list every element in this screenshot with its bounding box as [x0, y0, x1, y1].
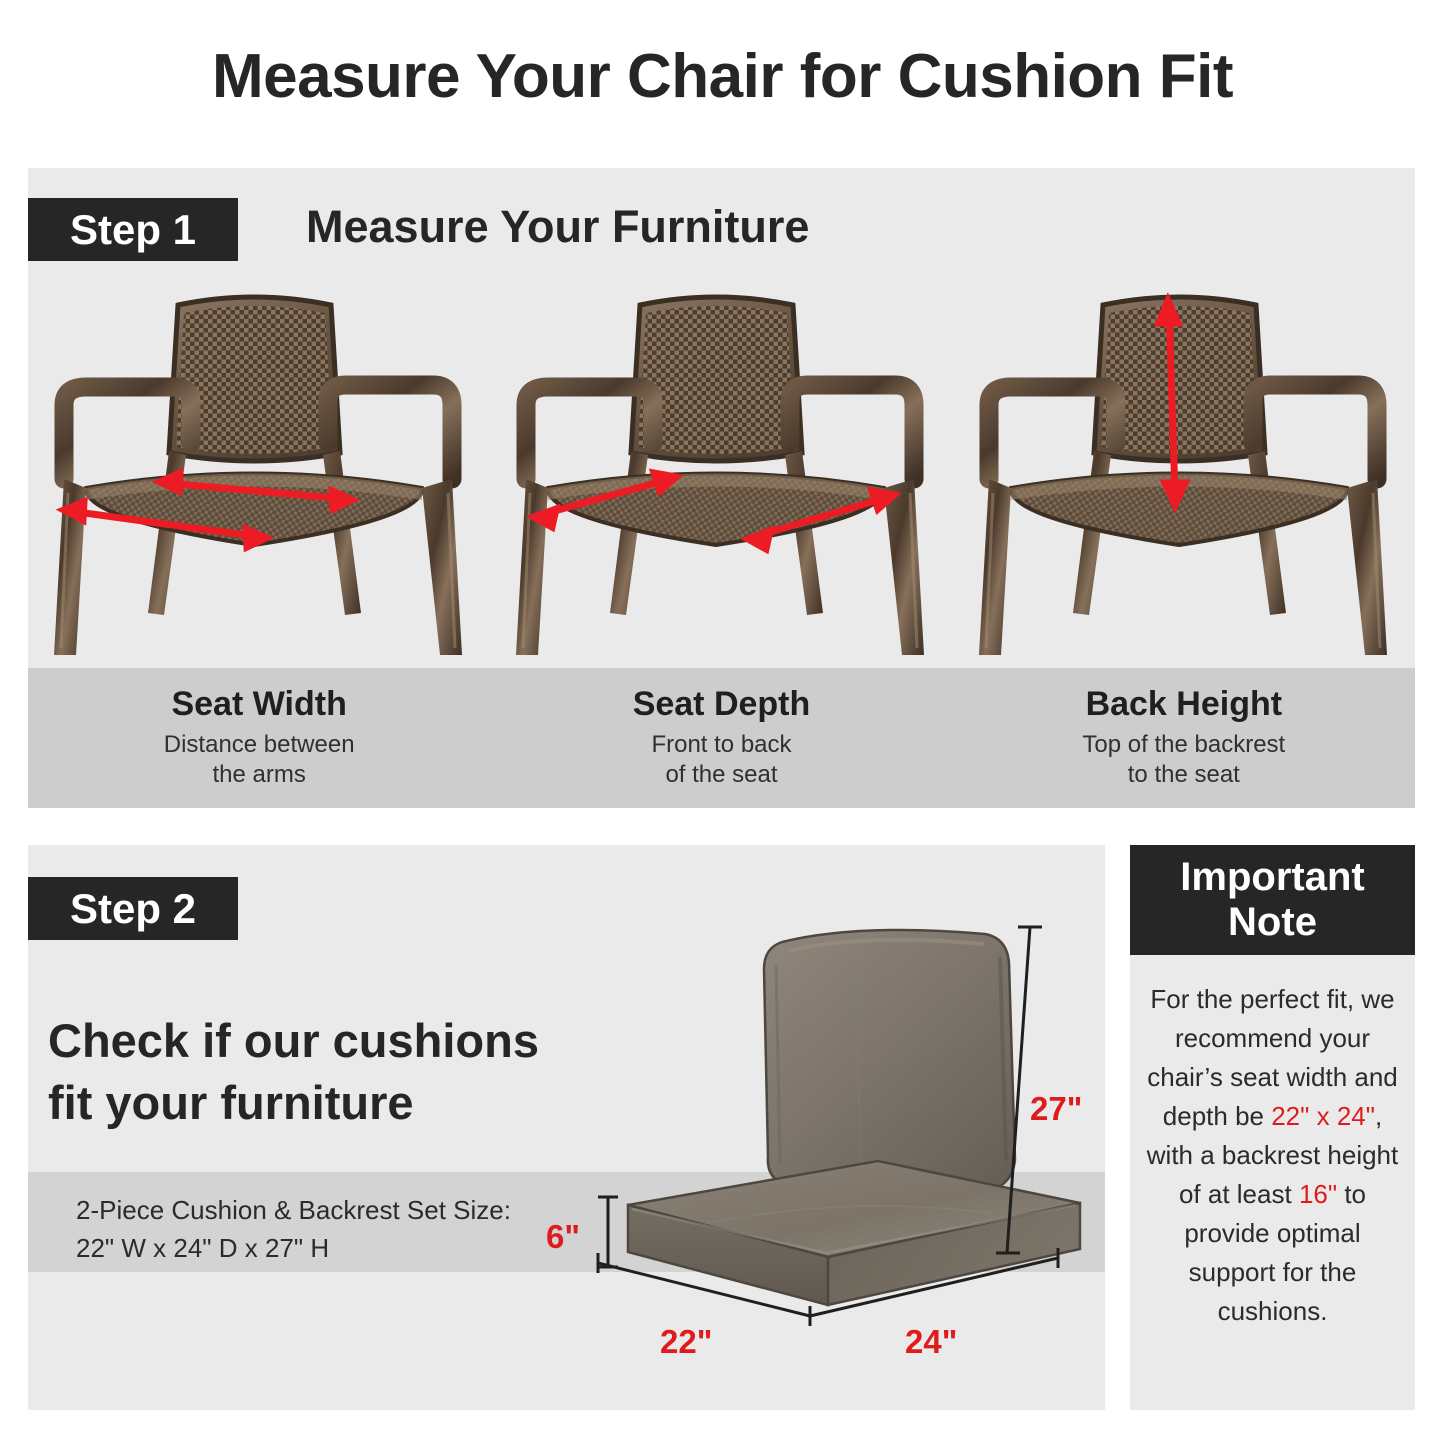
infographic-page: Measure Your Chair for Cushion Fit Step …	[0, 0, 1445, 1445]
cushion-size-line1: 2-Piece Cushion & Backrest Set Size:	[76, 1192, 511, 1230]
cushion-size-line2: 22" W x 24" D x 27" H	[76, 1230, 511, 1268]
chair-illustration-2	[490, 283, 952, 668]
page-title: Measure Your Chair for Cushion Fit	[0, 44, 1445, 109]
note-highlight-backrest: 16"	[1299, 1179, 1337, 1209]
caption-back-height: Back Height Top of the backrest to the s…	[953, 668, 1415, 808]
step1-panel: Step 1 Measure Your Furniture	[28, 168, 1415, 808]
caption-title: Back Height	[1086, 686, 1283, 723]
cushion-illustration: 27" 6" 22" 24"	[560, 905, 1120, 1375]
cushion-size-text: 2-Piece Cushion & Backrest Set Size: 22"…	[76, 1192, 511, 1267]
step1-heading: Measure Your Furniture	[306, 201, 809, 253]
note-badge-line2: Note	[1228, 900, 1317, 945]
dimension-label-thickness: 6"	[546, 1218, 580, 1256]
caption-line2: to the seat	[1128, 761, 1240, 788]
important-note-badge: Important Note	[1130, 845, 1415, 955]
caption-title: Seat Depth	[633, 686, 811, 723]
dimension-label-width: 22"	[660, 1323, 712, 1361]
backrest-cushion	[764, 930, 1015, 1197]
important-note-text: For the perfect fit, we recommend your c…	[1144, 980, 1401, 1331]
measurement-captions: Seat Width Distance between the arms Sea…	[28, 668, 1415, 808]
caption-title: Seat Width	[171, 686, 346, 723]
caption-description: Distance between the arms	[164, 730, 355, 790]
caption-line2: the arms	[212, 761, 305, 788]
chair-seat-width	[28, 283, 490, 668]
caption-line1: Top of the backrest	[1082, 731, 1285, 758]
chair-illustration-1	[28, 283, 490, 668]
caption-seat-depth: Seat Depth Front to back of the seat	[490, 668, 952, 808]
chair-illustrations	[28, 283, 1415, 668]
cushion-set-svg	[560, 905, 1120, 1375]
note-highlight-dimensions: 22" x 24"	[1271, 1101, 1375, 1131]
dimension-line-thickness	[598, 1197, 618, 1267]
caption-line1: Front to back	[651, 731, 791, 758]
dimension-label-height: 27"	[1030, 1090, 1082, 1128]
chair-seat-depth	[490, 283, 952, 668]
caption-line1: Distance between	[164, 731, 355, 758]
caption-description: Front to back of the seat	[651, 730, 791, 790]
dimension-label-depth: 24"	[905, 1323, 957, 1361]
chair-illustration-3	[953, 283, 1415, 668]
step1-badge: Step 1	[28, 198, 238, 261]
step2-badge: Step 2	[28, 877, 238, 940]
caption-line2: of the seat	[665, 761, 777, 788]
note-badge-line1: Important	[1180, 855, 1364, 900]
important-note-panel: Important Note For the perfect fit, we r…	[1130, 845, 1415, 1410]
caption-description: Top of the backrest to the seat	[1082, 730, 1285, 790]
caption-seat-width: Seat Width Distance between the arms	[28, 668, 490, 808]
chair-back-height	[953, 283, 1415, 668]
